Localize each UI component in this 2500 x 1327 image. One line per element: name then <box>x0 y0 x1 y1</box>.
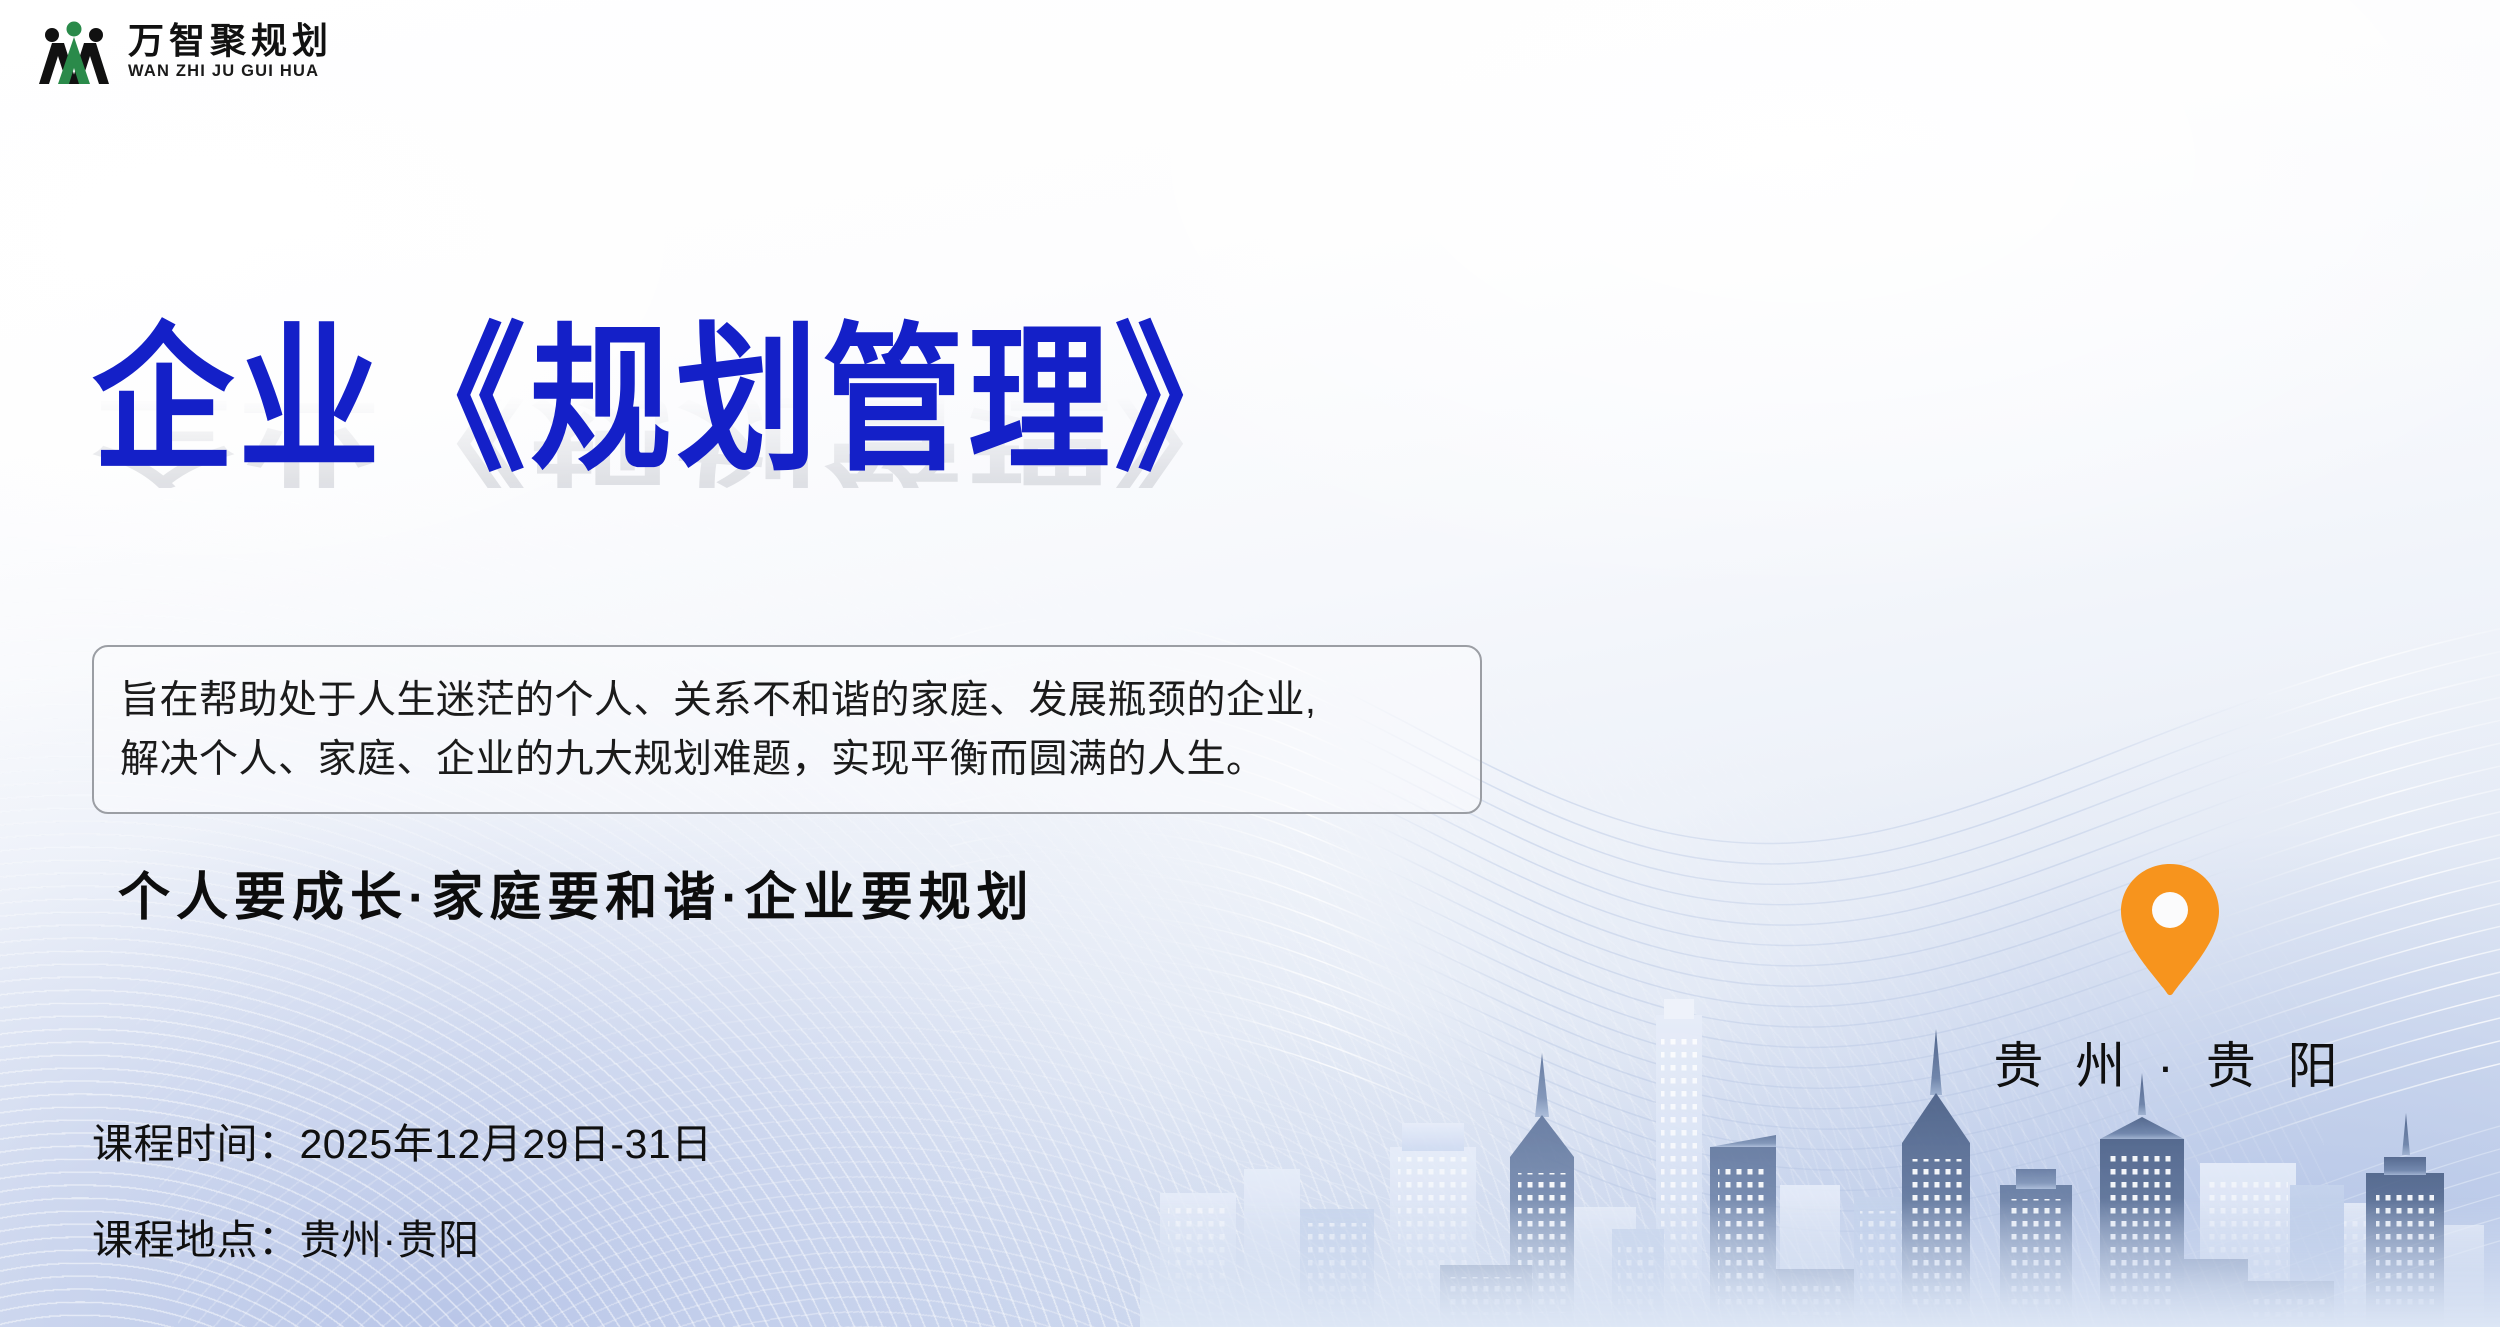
course-time-row: 课程时间：2025年12月29日-31日 <box>92 1110 713 1170</box>
course-time-value: 2025年12月29日-31日 <box>300 1121 713 1167</box>
description-line-2: 解决个人、家庭、企业的九大规划难题，实现平衡而圆满的人生。 <box>120 730 1454 789</box>
course-place-label: 课程地点： <box>92 1217 300 1263</box>
description-line-1: 旨在帮助处于人生迷茫的个人、关系不和谐的家庭、发展瓶颈的企业, <box>120 671 1454 730</box>
brand-wordmark: 万智聚规划 WAN ZHI JU GUI HUA <box>128 23 333 82</box>
hero-title-block: 企业《规划管理》 企业《规划管理》 <box>92 322 1260 464</box>
page-title: 企业《规划管理》 <box>92 322 1260 481</box>
slogan-text: 个人要成长·家庭要和谐·企业要规划 <box>118 855 1035 930</box>
brand-name-pinyin: WAN ZHI JU GUI HUA <box>128 62 333 81</box>
three-people-logo-icon <box>36 18 112 86</box>
course-place-value: 贵州·贵阳 <box>300 1217 480 1263</box>
brand-name-cn: 万智聚规划 <box>128 23 333 61</box>
location-label: 贵 州 · 贵 阳 <box>1960 1026 2380 1098</box>
description-box: 旨在帮助处于人生迷茫的个人、关系不和谐的家庭、发展瓶颈的企业, 解决个人、家庭、… <box>92 645 1482 814</box>
course-time-label: 课程时间： <box>92 1121 300 1167</box>
course-place-row: 课程地点：贵州·贵阳 <box>92 1206 713 1266</box>
course-info: 课程时间：2025年12月29日-31日 课程地点：贵州·贵阳 <box>92 1110 713 1266</box>
promo-banner: 万智聚规划 WAN ZHI JU GUI HUA 企业《规划管理》 企业《规划管… <box>0 0 2500 1327</box>
map-pin-icon <box>2114 860 2226 1000</box>
location-badge: 贵 州 · 贵 阳 <box>1960 860 2380 1098</box>
brand-logo[interactable]: 万智聚规划 WAN ZHI JU GUI HUA <box>36 18 333 86</box>
